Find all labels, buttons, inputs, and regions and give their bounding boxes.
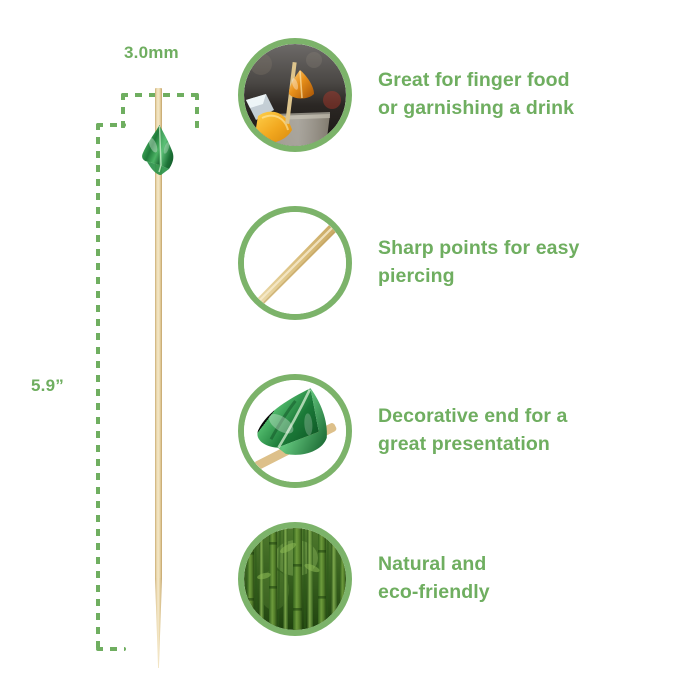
- sharp-tip-icon: [155, 578, 162, 668]
- length-dimension-label: 5.9”: [31, 376, 64, 396]
- feature-text-line: Great for finger food: [378, 67, 574, 95]
- feature-item-decorative-end: Decorative end for a great presentation: [235, 368, 700, 494]
- feature-text-line: or garnishing a drink: [378, 95, 574, 123]
- feature-text-line: great presentation: [378, 431, 567, 459]
- feature-item-eco-friendly: Natural and eco-friendly: [235, 516, 700, 642]
- sharp-point-photo: [238, 206, 352, 320]
- cocktail-drink-photo: [238, 38, 352, 152]
- green-glass-bead-icon: [141, 123, 178, 177]
- feature-text-line: piercing: [378, 263, 579, 291]
- feature-list: Great for finger food or garnishing a dr…: [235, 0, 700, 700]
- feature-text-decorative-end: Decorative end for a great presentation: [378, 403, 567, 458]
- length-bracket-tick-top: [96, 123, 126, 127]
- bamboo-pick: [150, 88, 168, 668]
- glass-bead-photo: [238, 374, 352, 488]
- product-diagram: 3.0mm 5.9”: [0, 0, 235, 700]
- feature-text-line: eco-friendly: [378, 579, 490, 607]
- length-bracket-tick-bottom: [96, 647, 126, 651]
- infographic-canvas: 3.0mm 5.9”: [0, 0, 700, 700]
- feature-text-eco-friendly: Natural and eco-friendly: [378, 551, 490, 606]
- feature-item-finger-food: Great for finger food or garnishing a dr…: [235, 32, 700, 158]
- feature-item-sharp-points: Sharp points for easy piercing: [235, 200, 700, 326]
- feature-text-line: Sharp points for easy: [378, 235, 579, 263]
- feature-text-finger-food: Great for finger food or garnishing a dr…: [378, 67, 574, 122]
- feature-text-line: Decorative end for a: [378, 403, 567, 431]
- length-bracket-span: [96, 123, 100, 651]
- feature-text-line: Natural and: [378, 551, 490, 579]
- width-bracket-tick-right: [195, 93, 199, 129]
- width-dimension-label: 3.0mm: [124, 43, 179, 63]
- bamboo-forest-photo: [238, 522, 352, 636]
- feature-text-sharp-points: Sharp points for easy piercing: [378, 235, 579, 290]
